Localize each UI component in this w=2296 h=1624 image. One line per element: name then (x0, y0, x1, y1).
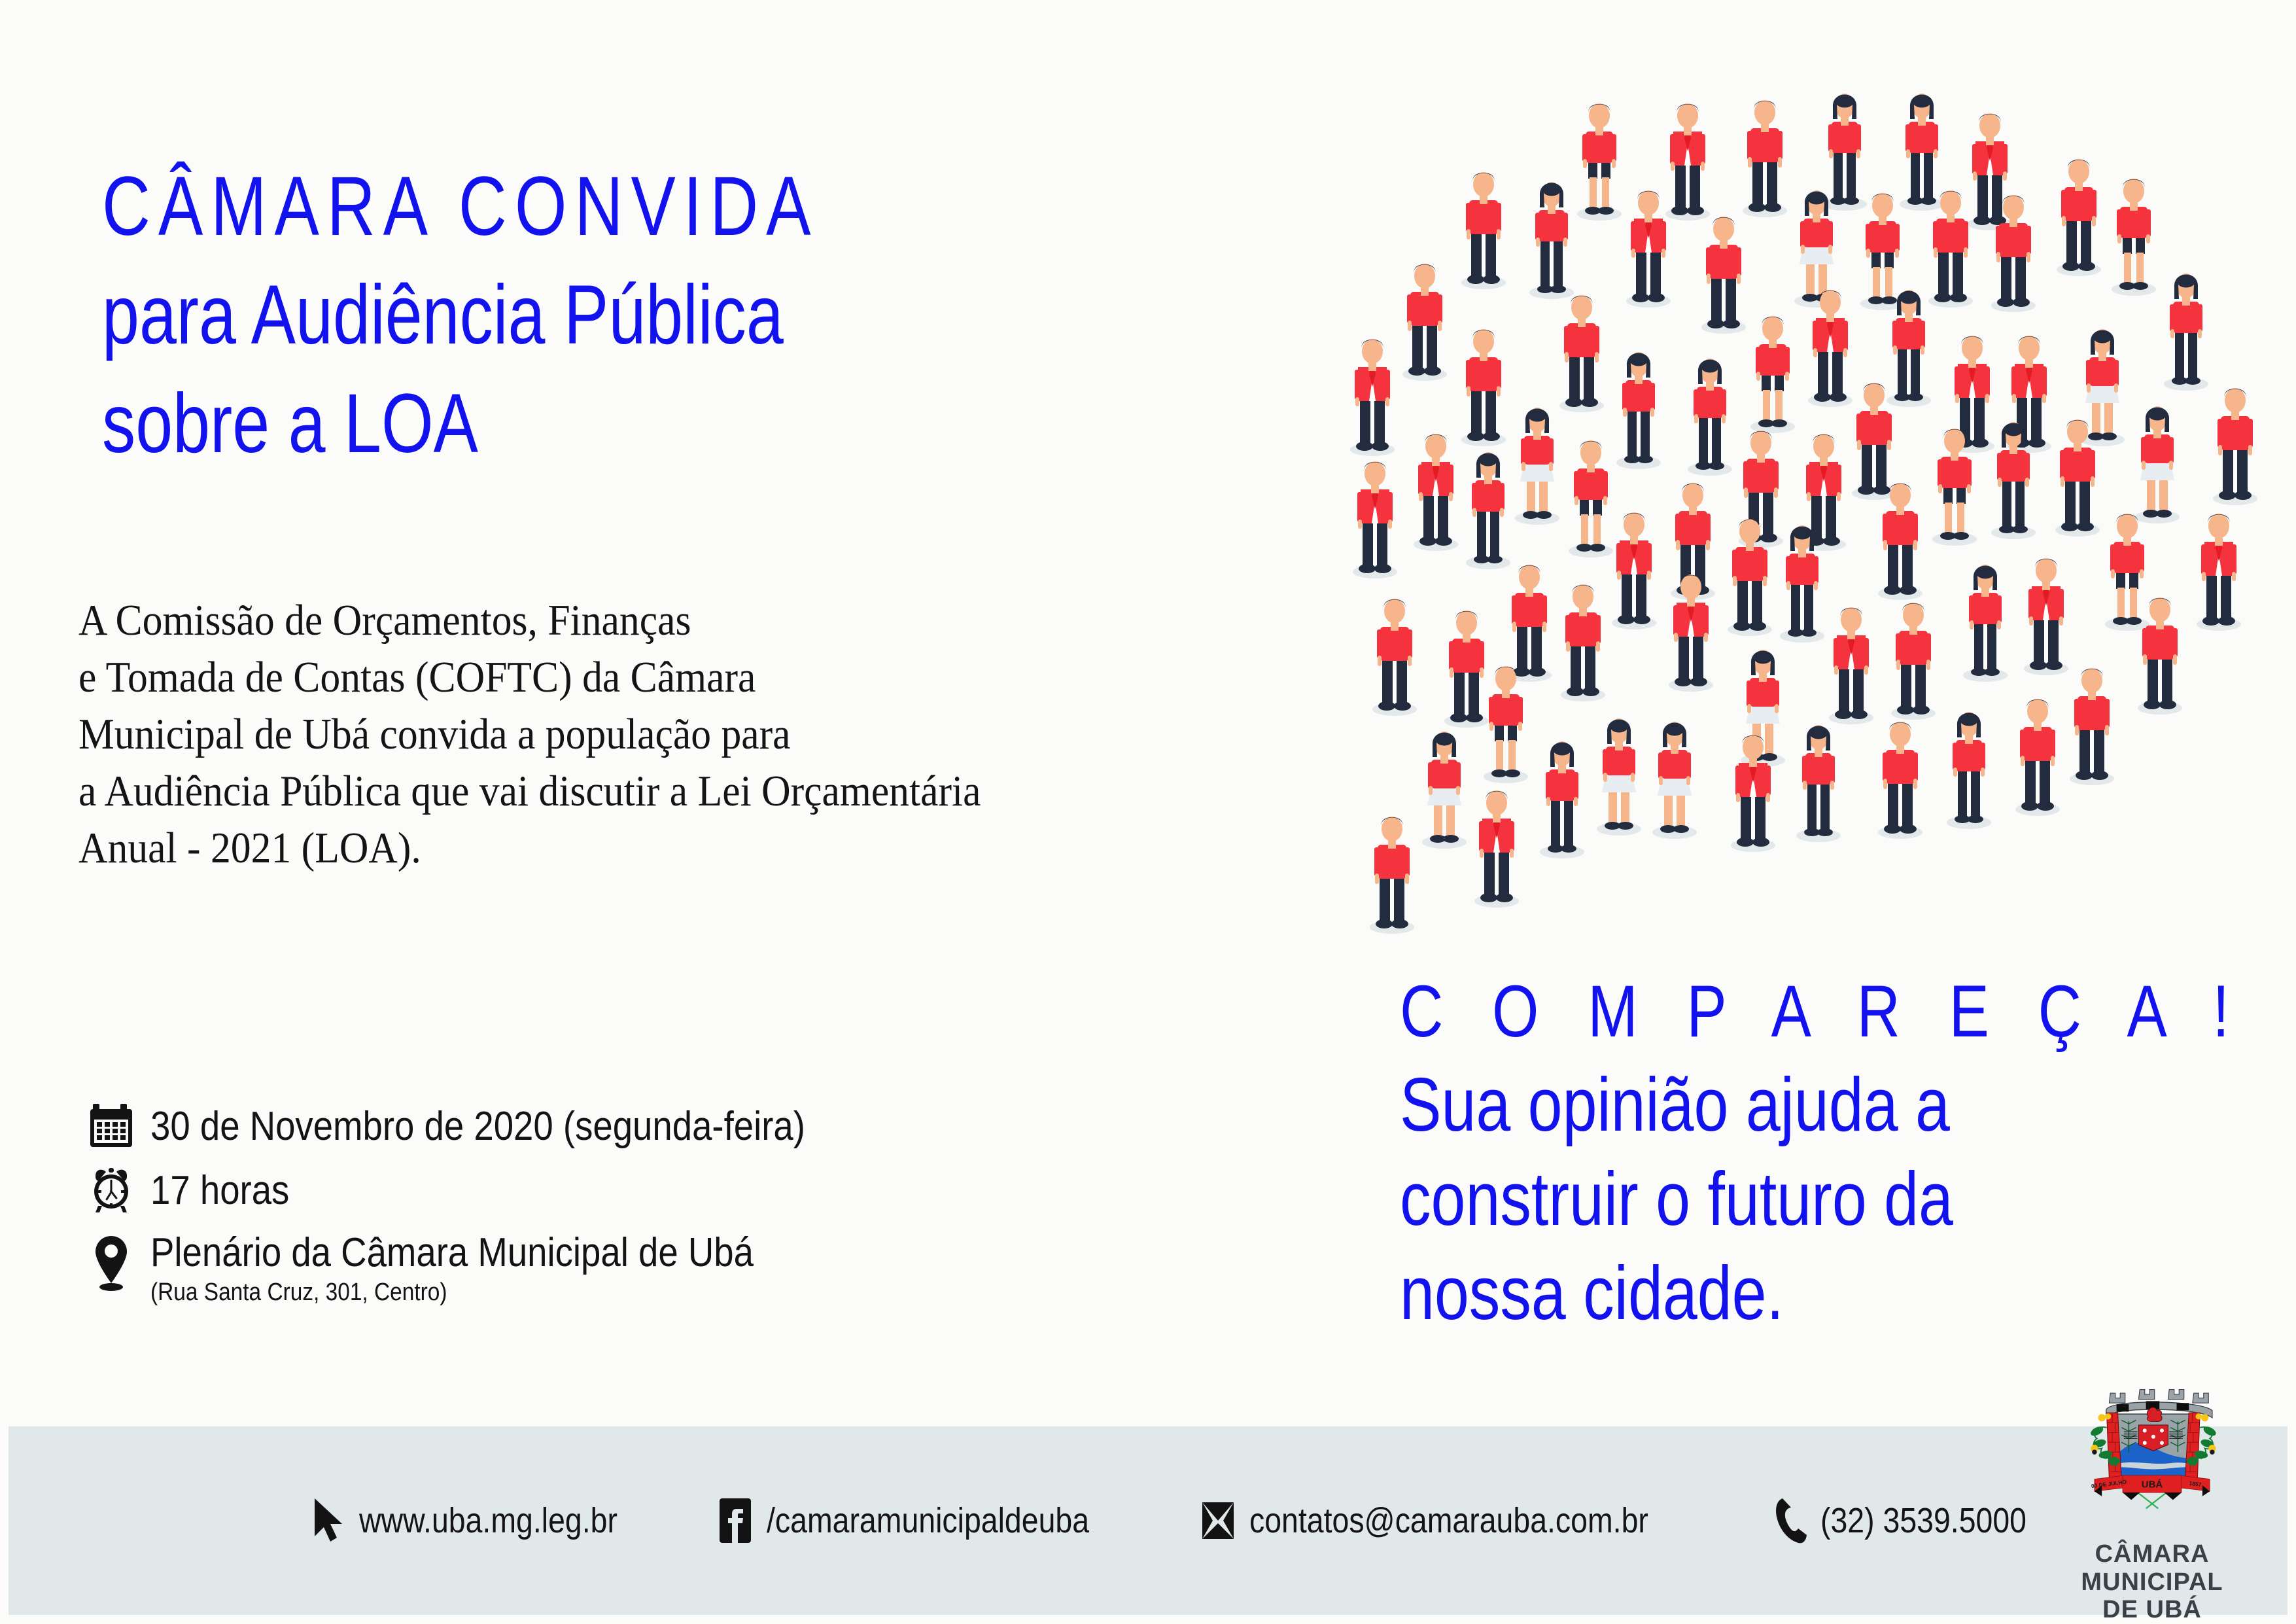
page-title: CÂMARA CONVIDA para Audiência Pública so… (102, 165, 818, 466)
footer-item-email[interactable]: contatos@camarauba.com.br (1198, 1496, 1713, 1545)
detail-row-time: 17 horas (78, 1165, 1191, 1215)
alarm-clock-icon (78, 1165, 150, 1215)
headline-line-1: CÂMARA CONVIDA (102, 165, 818, 249)
detail-row-place: Plenário da Câmara Municipal de Ubá (Rua… (78, 1229, 1191, 1307)
map-pin-icon (78, 1229, 150, 1296)
headline-line-2: para Audiência Pública (102, 274, 818, 357)
body-line-2: e Tomada de Contas (COFTC) da Câmara (78, 649, 1156, 706)
footer-email-text: contatos@camarauba.com.br (1249, 1500, 1648, 1541)
body-paragraph: A Comissão de Orçamentos, Finanças e Tom… (78, 592, 1156, 877)
calendar-icon (78, 1101, 150, 1151)
footer-item-website[interactable]: www.uba.mg.leg.br (309, 1496, 659, 1545)
footer-facebook-text: /camaramunicipaldeuba (767, 1500, 1089, 1541)
footer-item-facebook[interactable]: /camaramunicipaldeuba (716, 1496, 1141, 1545)
headline-line-3: sobre a LOA (102, 382, 818, 466)
left-content-column: CÂMARA CONVIDA para Audiência Pública so… (78, 0, 1269, 1426)
logo-caption: CÂMARA MUNICIPAL DE UBÁ (2021, 1540, 2283, 1624)
event-details-list: 30 de Novembro de 2020 (segunda-feira) (78, 1101, 1191, 1307)
place-text-group: Plenário da Câmara Municipal de Ubá (Rua… (150, 1229, 836, 1307)
cta-headline: C O M P A R E Ç A ! (1400, 975, 2097, 1048)
camara-municipal-de-uba-logo: 03 DE JULHO UBÁ 1857 CÂMARA MUNICIPAL DE… (2021, 1386, 2283, 1624)
cta-line-1: Sua opinião ajuda a (1400, 1067, 2097, 1142)
logo-caption-line-1: CÂMARA MUNICIPAL (2021, 1540, 2283, 1596)
detail-place-text: Plenário da Câmara Municipal de Ubá (150, 1229, 754, 1276)
facebook-icon (716, 1496, 756, 1545)
footer-item-phone[interactable]: (32) 3539.5000 (1769, 1494, 2060, 1547)
footer-website-text: www.uba.mg.leg.br (359, 1500, 617, 1541)
footer-phone-text: (32) 3539.5000 (1820, 1500, 2026, 1541)
body-line-1: A Comissão de Orçamentos, Finanças (78, 592, 1156, 649)
envelope-icon (1198, 1496, 1239, 1545)
body-line-5: Anual - 2021 (LOA). (78, 820, 1156, 877)
ribbon-center-text: UBÁ (2142, 1479, 2163, 1491)
phone-icon (1769, 1494, 1810, 1547)
detail-row-date: 30 de Novembro de 2020 (segunda-feira) (78, 1101, 1191, 1151)
detail-time-text: 17 horas (150, 1167, 289, 1214)
detail-place-address: (Rua Santa Cruz, 301, Centro) (150, 1279, 754, 1307)
logo-caption-line-2: DE UBÁ (2021, 1596, 2283, 1624)
body-line-4: a Audiência Pública que vai discutir a L… (78, 763, 1156, 820)
body-line-3: Municipal de Ubá convida a população par… (78, 706, 1156, 763)
cta-line-2: construir o futuro da (1400, 1161, 2097, 1237)
call-to-action-block: C O M P A R E Ç A ! Sua opinião ajuda a … (1400, 975, 2097, 1331)
detail-date-text: 30 de Novembro de 2020 (segunda-feira) (150, 1103, 805, 1150)
crowd-of-people-illustration: .crowd-svg .hair { fill: #232b3e; } .cro… (1295, 13, 2283, 962)
cta-line-3: nossa cidade. (1400, 1255, 2097, 1331)
footer-items-row: www.uba.mg.leg.br /camaramunicipaldeuba (9, 1426, 2004, 1615)
poster-root: CÂMARA CONVIDA para Audiência Pública so… (0, 0, 2296, 1624)
footer-contact-bar: www.uba.mg.leg.br /camaramunicipaldeuba (9, 1426, 2287, 1615)
cursor-arrow-icon (309, 1496, 349, 1545)
